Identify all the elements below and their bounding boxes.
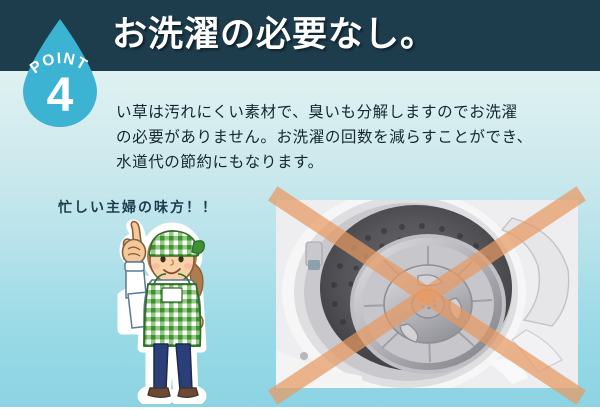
body-copy-line-3: 水道代の節約にもなります。	[116, 150, 546, 175]
body-copy: い草は汚れにくい素材で、臭いも分解しますのでお洗濯 の必要がありません。お洗濯の…	[116, 100, 546, 175]
body-copy-line-1: い草は汚れにくい素材で、臭いも分解しますのでお洗濯	[116, 100, 546, 125]
mascot-housewife-illustration	[88, 218, 220, 404]
page-title: お洗濯の必要なし。	[112, 12, 436, 58]
point-badge: POINT 4	[17, 17, 103, 129]
infographic-page: お洗濯の必要なし。 POINT 4 い草は汚れにくい素材で、臭いも分解しますので…	[0, 0, 600, 410]
catch-copy: 忙しい主婦の味方！！	[58, 197, 218, 217]
body-copy-line-2: の必要がありません。お洗濯の回数を減らすことができ、	[116, 125, 546, 150]
point-number: 4	[17, 72, 103, 120]
washing-machine-drum-art	[276, 200, 578, 388]
washing-machine-photo	[276, 200, 578, 388]
